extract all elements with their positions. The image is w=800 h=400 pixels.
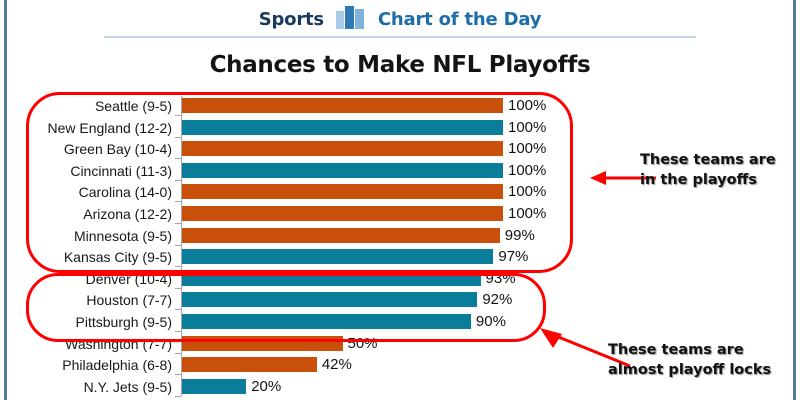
- bar-row: Pittsburgh (9-5)90%: [0, 312, 800, 332]
- bar: [182, 314, 471, 329]
- bar-value-label: 42%: [322, 355, 352, 375]
- bar-value-label: 97%: [498, 247, 528, 267]
- axis-tick: [175, 137, 181, 138]
- bar-row: Seattle (9-5)100%: [0, 96, 800, 116]
- axis-tick: [175, 331, 181, 332]
- bar-row-label: Minnesota (9-5): [0, 226, 172, 246]
- axis-tick: [175, 288, 181, 289]
- bar-value-label: 100%: [508, 139, 546, 159]
- axis-tick: [175, 158, 181, 159]
- bar-row-label: Arizona (12-2): [0, 204, 172, 224]
- bar: [182, 249, 493, 264]
- page-title: Chances to Make NFL Playoffs: [0, 52, 800, 78]
- bar-row-label: Seattle (9-5): [0, 96, 172, 116]
- bar: [182, 206, 503, 221]
- bar: [182, 163, 503, 178]
- bar: [182, 98, 503, 113]
- bar-value-label: 100%: [508, 96, 546, 116]
- axis-tick: [175, 245, 181, 246]
- header-divider: [104, 36, 696, 38]
- bar-value-label: 100%: [508, 118, 546, 138]
- annotation-locks: These teams are almost playoff locks: [608, 340, 771, 380]
- bar-value-label: 100%: [508, 161, 546, 181]
- brand-chart-of-the-day-label: Chart of the Day: [378, 9, 541, 30]
- axis-tick: [175, 266, 181, 267]
- bar-row-label: N.Y. Jets (9-5): [0, 377, 172, 397]
- axis-tick: [175, 115, 181, 116]
- bar-row: Kansas City (9-5)97%: [0, 247, 800, 267]
- annotation-playoffs-line2: in the playoffs: [640, 170, 776, 190]
- bar-row-label: New England (12-2): [0, 118, 172, 138]
- bar-row-label: Washington (7-7): [0, 334, 172, 354]
- bar: [182, 379, 246, 394]
- bar-chart-icon: [336, 5, 366, 34]
- bar-row-label: Green Bay (10-4): [0, 139, 172, 159]
- bar-row-label: Denver (10-4): [0, 269, 172, 289]
- bar: [182, 184, 503, 199]
- annotation-locks-line1: These teams are: [608, 340, 771, 360]
- bar-row: Denver (10-4)93%: [0, 269, 800, 289]
- bar: [182, 228, 500, 243]
- bar-value-label: 93%: [486, 269, 516, 289]
- annotation-playoffs-line1: These teams are: [640, 150, 776, 170]
- bar-row-label: Kansas City (9-5): [0, 247, 172, 267]
- annotation-locks-line2: almost playoff locks: [608, 360, 771, 380]
- bar-row-label: Philadelphia (6-8): [0, 355, 172, 375]
- bar: [182, 292, 477, 307]
- annotation-playoffs: These teams are in the playoffs: [640, 150, 776, 190]
- bar-value-label: 90%: [476, 312, 506, 332]
- bar: [182, 120, 503, 135]
- axis-tick: [175, 396, 181, 397]
- bar-value-label: 100%: [508, 182, 546, 202]
- axis-tick: [175, 309, 181, 310]
- axis-tick: [175, 201, 181, 202]
- bar-value-label: 92%: [482, 290, 512, 310]
- bar: [182, 141, 503, 156]
- bar-row: Arizona (12-2)100%: [0, 204, 800, 224]
- axis-tick: [175, 180, 181, 181]
- bar-row: Houston (7-7)92%: [0, 290, 800, 310]
- bar: [182, 271, 481, 286]
- bar-row-label: Cincinnati (11-3): [0, 161, 172, 181]
- bar-row-label: Houston (7-7): [0, 290, 172, 310]
- axis-tick: [175, 374, 181, 375]
- bar: [182, 357, 317, 372]
- bar-row-label: Pittsburgh (9-5): [0, 312, 172, 332]
- bar-value-label: 99%: [505, 226, 535, 246]
- bar-value-label: 100%: [508, 204, 546, 224]
- bar-value-label: 50%: [348, 334, 378, 354]
- axis-tick: [175, 353, 181, 354]
- header-bar: Sports Chart of the Day: [0, 0, 800, 38]
- bar-row-label: Carolina (14-0): [0, 182, 172, 202]
- axis-tick: [175, 223, 181, 224]
- chart-page: Sports Chart of the Day Chances to Make …: [0, 0, 800, 400]
- bar-row: New England (12-2)100%: [0, 118, 800, 138]
- brand-sports-label: Sports: [259, 9, 324, 30]
- bar-row: Minnesota (9-5)99%: [0, 226, 800, 246]
- bar: [182, 336, 343, 351]
- bar-value-label: 20%: [251, 377, 281, 397]
